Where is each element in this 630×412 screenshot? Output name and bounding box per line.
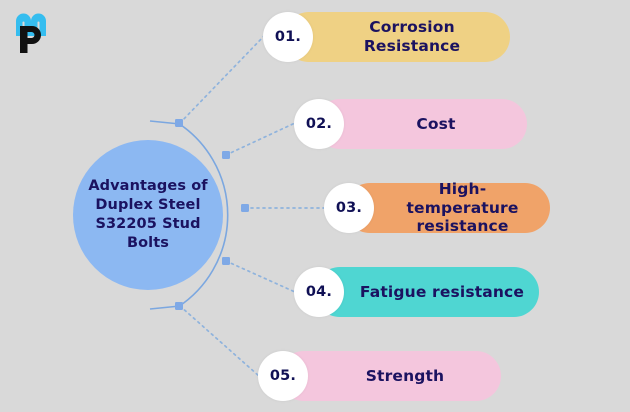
advantage-number-badge: 01. bbox=[263, 12, 313, 62]
leader-line-4 bbox=[226, 261, 295, 292]
advantage-label: Corrosion Resistance bbox=[284, 18, 510, 56]
hub-title-line: Duplex Steel bbox=[88, 196, 207, 215]
hub-title: Advantages of Duplex Steel S32205 Stud B… bbox=[88, 177, 207, 254]
leader-line-2 bbox=[226, 123, 295, 155]
hub-title-line: S32205 Stud bbox=[88, 215, 207, 234]
arc-node-2 bbox=[222, 151, 230, 159]
advantage-label: Cost bbox=[372, 115, 469, 134]
advantage-number-badge: 04. bbox=[294, 267, 344, 317]
advantage-label-line: Fatigue resistance bbox=[360, 283, 524, 302]
advantage-label: Strength bbox=[322, 367, 459, 386]
advantage-item[interactable]: High-temperature resistance 03. bbox=[324, 183, 550, 233]
advantage-pill[interactable]: Fatigue resistance bbox=[315, 267, 539, 317]
advantage-number: 01. bbox=[275, 29, 301, 45]
advantage-number: 02. bbox=[306, 116, 332, 132]
arc-node-3 bbox=[241, 204, 249, 212]
advantage-number-badge: 03. bbox=[324, 183, 374, 233]
advantage-item[interactable]: Cost 02. bbox=[294, 99, 530, 149]
leader-line-5 bbox=[180, 306, 259, 376]
advantage-label-line: resistance bbox=[389, 217, 536, 236]
advantage-label: High-temperature resistance bbox=[345, 180, 550, 237]
arc-node-4 bbox=[222, 257, 230, 265]
advantage-item[interactable]: Fatigue resistance 04. bbox=[294, 267, 544, 317]
hub-title-line: Advantages of bbox=[88, 177, 207, 196]
advantage-label-line: High-temperature bbox=[389, 180, 536, 218]
arc-node-5 bbox=[175, 302, 183, 310]
advantage-item[interactable]: Strength 05. bbox=[258, 351, 508, 401]
advantage-pill[interactable]: Cost bbox=[315, 99, 527, 149]
arc-node-1 bbox=[175, 119, 183, 127]
advantage-label-line: Corrosion Resistance bbox=[328, 18, 496, 56]
advantage-number-badge: 05. bbox=[258, 351, 308, 401]
advantage-label: Fatigue resistance bbox=[316, 283, 538, 302]
leader-line-1 bbox=[180, 36, 264, 123]
advantage-number-badge: 02. bbox=[294, 99, 344, 149]
hub-circle: Advantages of Duplex Steel S32205 Stud B… bbox=[73, 140, 223, 290]
advantage-label-line: Cost bbox=[416, 115, 455, 134]
advantage-item[interactable]: Corrosion Resistance 01. bbox=[263, 12, 513, 62]
advantage-label-line: Strength bbox=[366, 367, 445, 386]
advantage-number: 05. bbox=[270, 368, 296, 384]
advantage-pill[interactable]: Strength bbox=[279, 351, 501, 401]
advantage-number: 03. bbox=[336, 200, 362, 216]
infographic-canvas: Advantages of Duplex Steel S32205 Stud B… bbox=[0, 0, 630, 412]
hub-title-line: Bolts bbox=[88, 234, 207, 253]
advantage-pill[interactable]: Corrosion Resistance bbox=[284, 12, 510, 62]
advantage-number: 04. bbox=[306, 284, 332, 300]
advantage-pill[interactable]: High-temperature resistance bbox=[345, 183, 550, 233]
